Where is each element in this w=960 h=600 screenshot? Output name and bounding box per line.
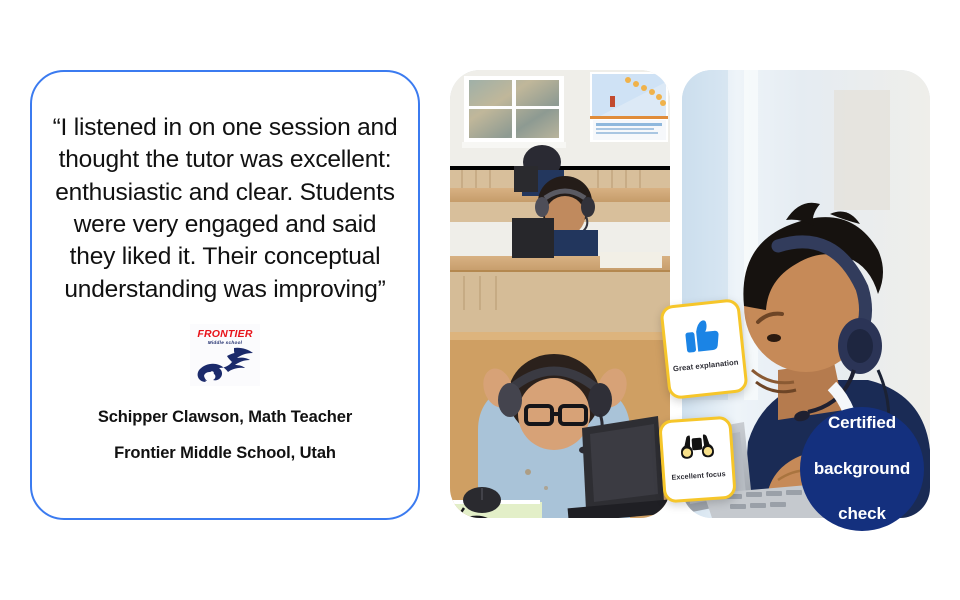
testimonial-card: “I listened in on one session and though…: [30, 70, 420, 520]
testimonial-author: Schipper Clawson, Math Teacher: [98, 408, 352, 427]
feedback-card-great-explanation: Great explanation: [659, 298, 748, 400]
badge-line-2: background: [806, 458, 918, 481]
mustang-head-icon: [194, 346, 256, 384]
photo-classroom: [450, 70, 670, 518]
binoculars-icon: [678, 431, 716, 461]
testimonial-author-school: Frontier Middle School, Utah: [114, 444, 336, 463]
certified-background-check-badge: Certified background check: [800, 407, 924, 531]
feedback-card-excellent-focus: Excellent focus: [658, 416, 737, 504]
testimonial-quote: “I listened in on one session and though…: [50, 112, 400, 306]
school-logo-subtitle: Middle school: [190, 341, 260, 346]
feedback-card-label: Excellent focus: [671, 469, 726, 482]
testimonial-section: “I listened in on one session and though…: [0, 0, 960, 600]
thumbs-up-icon: [682, 316, 723, 354]
badge-line-1: Certified: [806, 412, 918, 435]
school-logo: FRONTIER Middle school: [190, 324, 260, 386]
school-logo-wordmark: FRONTIER: [190, 329, 260, 340]
feedback-card-label: Great explanation: [673, 357, 739, 373]
badge-line-3: check: [806, 503, 918, 526]
